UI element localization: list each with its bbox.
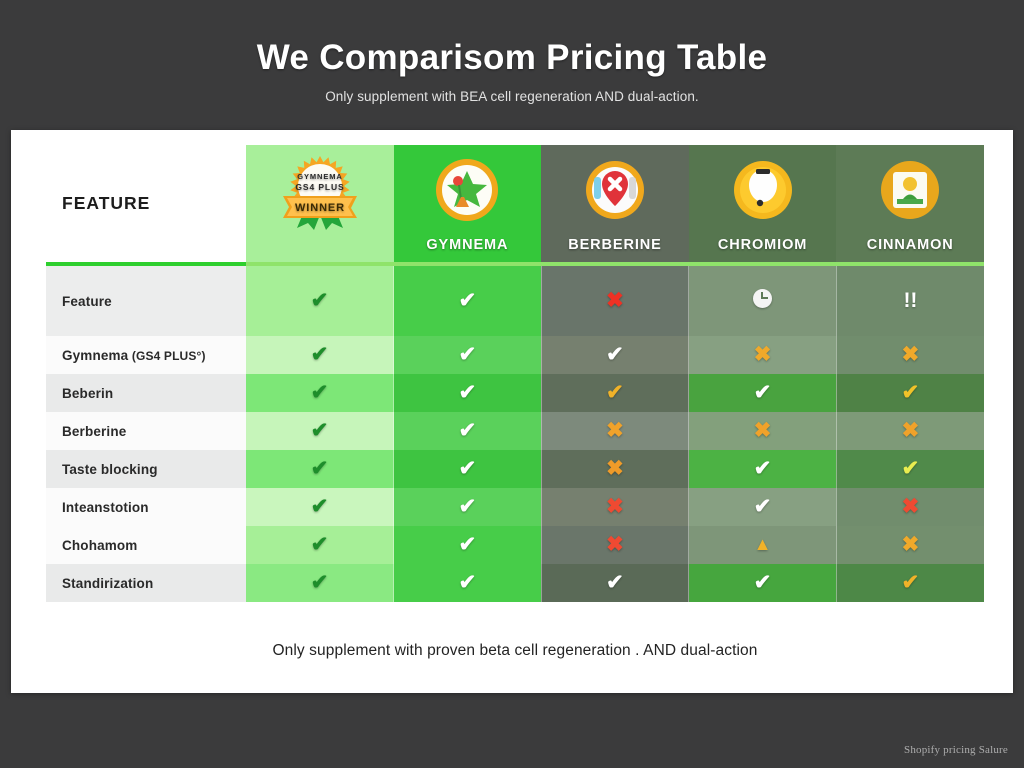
comparison-pricing-table: FEATUREGYMNEMAGS4 PLUSWINNERGYMNEMABERBE… [46, 145, 984, 602]
table-cell: ✔ [394, 412, 542, 450]
check-icon: ✔ [311, 382, 329, 403]
table-cell: ✖ [836, 336, 984, 374]
cross-icon: ✖ [606, 458, 624, 479]
svg-text:GS4 PLUS: GS4 PLUS [295, 182, 344, 192]
table-cell: ✔ [394, 526, 542, 564]
check-icon: ✔ [459, 382, 477, 403]
winner-seal-badge: GYMNEMAGS4 PLUSWINNER [246, 151, 394, 229]
cross-icon: ✖ [606, 534, 624, 555]
check-icon: ✔ [606, 344, 624, 365]
row-feature-label: Beberin [46, 374, 246, 412]
table-cell: ✔ [541, 374, 689, 412]
table-header-row: FEATUREGYMNEMAGS4 PLUSWINNERGYMNEMABERBE… [46, 145, 984, 264]
check-icon: ✔ [754, 572, 772, 593]
check-icon: ✔ [902, 382, 920, 403]
double-exclamation-icon: !! [903, 290, 917, 311]
row-feature-label: Inteanstotion [46, 488, 246, 526]
table-cell: ✖ [689, 336, 837, 374]
table-cell: ✖ [541, 488, 689, 526]
row-feature-label: Berberine [46, 412, 246, 450]
table-cell: ✔ [246, 264, 394, 336]
cross-icon: ✖ [754, 420, 772, 441]
cross-icon: ✖ [754, 344, 772, 365]
check-icon: ✔ [459, 420, 477, 441]
check-icon: ✔ [902, 572, 920, 593]
page-subtitle: Only supplement with BEA cell regenerati… [0, 78, 1024, 104]
table-row: Beberin✔✔✔✔✔ [46, 374, 984, 412]
chromium-drop-badge [689, 151, 837, 229]
table-cell: ✔ [689, 488, 837, 526]
page-header: We Comparisom Pricing Table Only supplem… [0, 0, 1024, 130]
column-header-label: GYMNEMA [394, 237, 542, 253]
feature-column-header: FEATURE [46, 145, 246, 264]
footer-note: Only supplement with proven beta cell re… [46, 642, 984, 660]
column-header-berberine[interactable]: BERBERINE [541, 145, 689, 264]
cross-icon: ✖ [606, 496, 624, 517]
check-icon: ✔ [902, 458, 920, 479]
table-cell: ▲ [689, 526, 837, 564]
table-cell: ✔ [246, 488, 394, 526]
column-header-label: CINNAMON [836, 237, 984, 253]
check-icon: ✔ [311, 344, 329, 365]
check-icon: ✔ [606, 382, 624, 403]
cinnamon-jar-badge [836, 151, 984, 229]
table-cell: ✖ [836, 488, 984, 526]
table-cell: ✔ [246, 412, 394, 450]
check-icon: ✔ [459, 572, 477, 593]
check-icon: ✔ [311, 420, 329, 441]
check-icon: ✔ [311, 290, 329, 311]
check-icon: ✔ [459, 344, 477, 365]
table-cell: ✔ [836, 374, 984, 412]
table-cell: ✔ [394, 564, 542, 602]
column-header-cinnamon[interactable]: CINNAMON [836, 145, 984, 264]
table-cell: ✔ [541, 564, 689, 602]
check-icon: ✔ [754, 496, 772, 517]
row-feature-label: Feature [46, 264, 246, 336]
check-icon: ✔ [459, 290, 477, 311]
clock-icon [753, 289, 772, 308]
table-cell: ✔ [836, 564, 984, 602]
svg-text:WINNER: WINNER [295, 202, 345, 214]
column-header-label: BERBERINE [541, 237, 689, 253]
table-cell: ✔ [394, 450, 542, 488]
comparison-card: FEATUREGYMNEMAGS4 PLUSWINNERGYMNEMABERBE… [11, 130, 1013, 693]
table-cell: ✔ [394, 264, 542, 336]
table-cell: !! [836, 264, 984, 336]
row-feature-label: Gymnema (GS4 PLUS°) [46, 336, 246, 374]
cross-icon: ✖ [902, 496, 920, 517]
table-row: Feature✔✔✖!! [46, 264, 984, 336]
check-icon: ✔ [311, 458, 329, 479]
table-cell: ✖ [541, 450, 689, 488]
table-row: Inteanstotion✔✔✖✔✖ [46, 488, 984, 526]
cross-icon: ✖ [606, 420, 624, 441]
gymnema-leaf-badge [394, 151, 542, 229]
table-cell: ✔ [394, 336, 542, 374]
table-cell: ✔ [246, 336, 394, 374]
table-row: Taste blocking✔✔✖✔✔ [46, 450, 984, 488]
row-feature-label: Chohamom [46, 526, 246, 564]
page-title: We Comparisom Pricing Table [0, 0, 1024, 78]
column-header-gymnema[interactable]: GYMNEMAGS4 PLUSWINNER [246, 145, 394, 264]
berberine-cross-badge [541, 151, 689, 229]
cross-icon: ✖ [902, 534, 920, 555]
table-row: Gymnema (GS4 PLUS°)✔✔✔✖✖ [46, 336, 984, 374]
table-cell: ✖ [836, 412, 984, 450]
column-header-gymnema[interactable]: GYMNEMA [394, 145, 542, 264]
table-cell: ✔ [689, 374, 837, 412]
column-header-label: CHROMIOM [689, 237, 837, 253]
watermark-label: Shopify pricing Salure [904, 744, 1008, 756]
table-cell: ✔ [246, 374, 394, 412]
check-icon: ✔ [459, 534, 477, 555]
check-icon: ✔ [311, 534, 329, 555]
row-feature-label: Taste blocking [46, 450, 246, 488]
table-cell: ✔ [246, 526, 394, 564]
table-row: Standirization✔✔✔✔✔ [46, 564, 984, 602]
table-cell: ✖ [541, 526, 689, 564]
table-cell: ✔ [836, 450, 984, 488]
table-body: Feature✔✔✖!!Gymnema (GS4 PLUS°)✔✔✔✖✖Bebe… [46, 264, 984, 602]
table-cell: ✔ [246, 450, 394, 488]
table-cell [689, 264, 837, 336]
cross-icon: ✖ [902, 344, 920, 365]
check-icon: ✔ [459, 496, 477, 517]
table-cell: ✖ [689, 412, 837, 450]
table-cell: ✖ [541, 412, 689, 450]
table-cell: ✔ [689, 450, 837, 488]
row-feature-label: Standirization [46, 564, 246, 602]
table-cell: ✔ [541, 336, 689, 374]
check-icon: ✔ [754, 382, 772, 403]
check-icon: ✔ [459, 458, 477, 479]
check-icon: ✔ [311, 572, 329, 593]
cross-icon: ✖ [902, 420, 920, 441]
table-cell: ✔ [394, 374, 542, 412]
table-row: Berberine✔✔✖✖✖ [46, 412, 984, 450]
table-cell: ✔ [689, 564, 837, 602]
table-cell: ✖ [541, 264, 689, 336]
table-row: Chohamom✔✔✖▲✖ [46, 526, 984, 564]
column-header-chromiom[interactable]: CHROMIOM [689, 145, 837, 264]
feature-header-label: FEATURE [62, 193, 150, 213]
table-cell: ✔ [394, 488, 542, 526]
check-icon: ✔ [754, 458, 772, 479]
svg-text:GYMNEMA: GYMNEMA [297, 172, 342, 181]
check-icon: ✔ [606, 572, 624, 593]
cross-icon: ✖ [606, 290, 624, 311]
table-cell: ✖ [836, 526, 984, 564]
table-cell: ✔ [246, 564, 394, 602]
check-icon: ✔ [311, 496, 329, 517]
warning-icon: ▲ [754, 535, 772, 553]
